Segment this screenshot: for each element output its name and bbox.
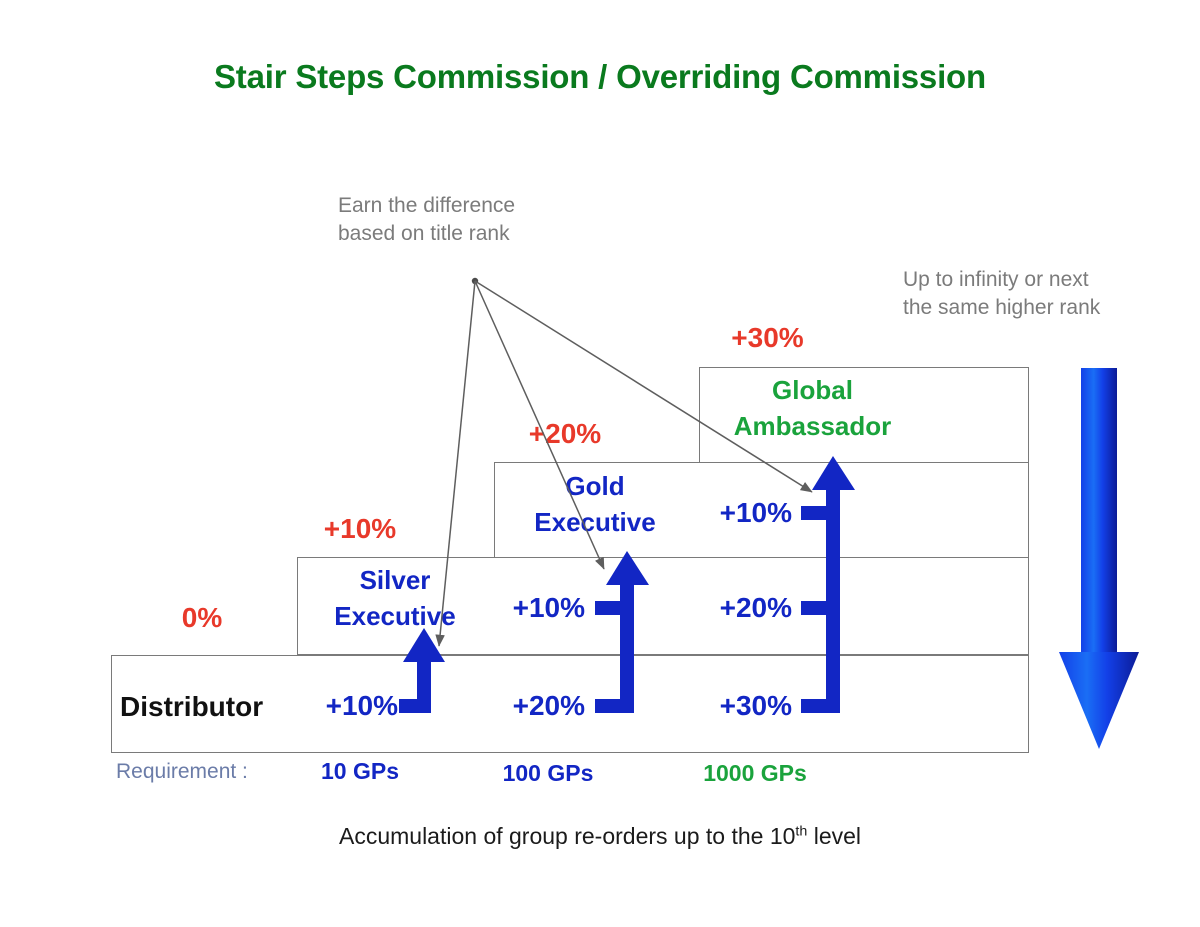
big-arrow-head	[1059, 652, 1139, 749]
requirement-label: Requirement :	[116, 760, 248, 784]
override-pct-col2-row2: +10%	[455, 592, 585, 624]
step-pct-gold-executive: +20%	[505, 418, 625, 450]
caption-text-before: Accumulation of group re-orders up to th…	[339, 823, 795, 849]
caption-ordinal-suffix: th	[795, 823, 807, 839]
diagram-canvas: Stair Steps Commission / Overriding Comm…	[0, 0, 1200, 927]
note-up-to-infinity: Up to infinity or next the same higher r…	[903, 266, 1100, 322]
requirement-value-10gps: 10 GPs	[290, 758, 430, 785]
step-pct-silver-executive: +10%	[305, 513, 415, 545]
page-title: Stair Steps Commission / Overriding Comm…	[0, 58, 1200, 96]
leader-origin-dot	[472, 278, 478, 284]
override-pct-col3-row1: +30%	[662, 690, 792, 722]
rank-label-global-ambassador: Global Ambassador	[700, 372, 925, 444]
step-pct-global-ambassador: +30%	[705, 322, 830, 354]
override-pct-col3-row2: +20%	[662, 592, 792, 624]
infinity-down-arrow	[1059, 368, 1139, 749]
footer-caption: Accumulation of group re-orders up to th…	[0, 823, 1200, 850]
override-pct-col2-row1: +20%	[455, 690, 585, 722]
note-earn-the-difference: Earn the difference based on title rank	[338, 192, 515, 248]
override-pct-col3-row3: +10%	[662, 497, 792, 529]
caption-text-after: level	[807, 823, 861, 849]
requirement-value-100gps: 100 GPs	[473, 760, 623, 787]
step-pct-distributor: 0%	[152, 602, 252, 634]
override-pct-col1-row1: +10%	[268, 690, 398, 722]
big-arrow-shaft	[1081, 368, 1117, 655]
requirement-value-1000gps: 1000 GPs	[665, 760, 845, 787]
